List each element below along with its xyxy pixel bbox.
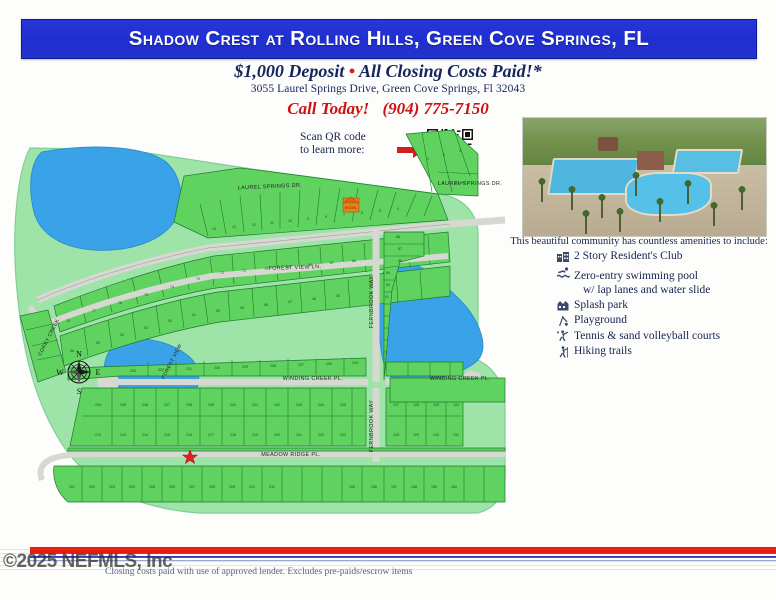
svg-text:222: 222 bbox=[318, 433, 324, 437]
svg-text:235: 235 bbox=[120, 403, 126, 407]
svg-text:236: 236 bbox=[142, 403, 148, 407]
svg-text:228: 228 bbox=[270, 364, 276, 368]
svg-text:240: 240 bbox=[230, 403, 236, 407]
svg-text:218: 218 bbox=[230, 433, 236, 437]
svg-text:209: 209 bbox=[229, 485, 235, 489]
svg-text:4: 4 bbox=[397, 207, 399, 211]
svg-text:203: 203 bbox=[109, 485, 115, 489]
property-address: 3055 Laurel Springs Drive, Green Cove Sp… bbox=[0, 83, 776, 95]
compass-east-label: E bbox=[96, 368, 101, 377]
svg-text:14: 14 bbox=[212, 227, 216, 231]
retention-pond-north bbox=[31, 147, 181, 250]
street-label: WINDING CREEK PL. bbox=[430, 376, 490, 382]
svg-text:47: 47 bbox=[288, 300, 292, 304]
svg-text:127: 127 bbox=[393, 403, 399, 407]
svg-text:69: 69 bbox=[286, 265, 290, 269]
svg-text:5: 5 bbox=[379, 209, 381, 213]
svg-text:77: 77 bbox=[92, 309, 96, 313]
svg-text:46: 46 bbox=[312, 297, 316, 301]
svg-text:213: 213 bbox=[120, 433, 126, 437]
svg-text:PARK: PARK bbox=[455, 181, 465, 185]
palm-tree-icon bbox=[581, 208, 591, 234]
svg-text:216: 216 bbox=[186, 433, 192, 437]
svg-text:88: 88 bbox=[398, 259, 402, 263]
compass-west-label: W bbox=[56, 368, 64, 377]
palm-tree-icon bbox=[597, 192, 607, 218]
header-banner: Shadow Crest at Rolling Hills, Green Cov… bbox=[21, 19, 757, 59]
svg-text:156: 156 bbox=[371, 485, 377, 489]
svg-text:72: 72 bbox=[220, 271, 224, 275]
svg-text:160: 160 bbox=[451, 485, 457, 489]
svg-text:52: 52 bbox=[168, 319, 172, 323]
svg-text:208: 208 bbox=[209, 485, 215, 489]
hiking-icon bbox=[556, 345, 570, 358]
svg-text:70: 70 bbox=[264, 267, 268, 271]
svg-text:230: 230 bbox=[214, 366, 220, 370]
svg-text:204: 204 bbox=[129, 485, 135, 489]
svg-text:245: 245 bbox=[340, 403, 346, 407]
svg-text:241: 241 bbox=[252, 403, 258, 407]
svg-text:54: 54 bbox=[120, 333, 124, 337]
svg-text:225: 225 bbox=[352, 361, 358, 365]
site-plan-svg[interactable]: LAUREL SPRINGS DR. LAUREL SPRINGS DR. FO… bbox=[8, 110, 508, 525]
amenity-text-group: Zero-entry swimming pool w/ lap lanes an… bbox=[574, 266, 710, 297]
svg-text:211: 211 bbox=[269, 485, 275, 489]
svg-text:124: 124 bbox=[453, 403, 459, 407]
svg-text:11: 11 bbox=[270, 221, 274, 225]
svg-text:68: 68 bbox=[308, 263, 312, 267]
svg-text:55: 55 bbox=[96, 341, 100, 345]
svg-text:45: 45 bbox=[336, 294, 340, 298]
amenities-intro: This beautiful community has countless a… bbox=[505, 236, 773, 247]
amenity-label: Splash park bbox=[574, 299, 628, 312]
street-label: FERNBROOK WAY bbox=[369, 276, 375, 329]
model-home-label: MODEL bbox=[345, 206, 358, 210]
svg-text:229: 229 bbox=[242, 365, 248, 369]
tennis-icon bbox=[556, 330, 570, 343]
svg-text:223: 223 bbox=[340, 433, 346, 437]
svg-text:158: 158 bbox=[411, 485, 417, 489]
svg-text:207: 207 bbox=[189, 485, 195, 489]
splash-park-icon bbox=[556, 299, 570, 312]
svg-text:159: 159 bbox=[431, 485, 437, 489]
svg-text:210: 210 bbox=[249, 485, 255, 489]
flyer-page: Shadow Crest at Rolling Hills, Green Cov… bbox=[0, 0, 776, 600]
svg-text:244: 244 bbox=[318, 403, 324, 407]
svg-text:86: 86 bbox=[396, 235, 400, 239]
photo-clubhouse bbox=[637, 151, 664, 170]
svg-text:7: 7 bbox=[343, 213, 345, 217]
svg-text:155: 155 bbox=[349, 485, 355, 489]
svg-text:1: 1 bbox=[427, 157, 429, 161]
svg-text:219: 219 bbox=[252, 433, 258, 437]
svg-text:9: 9 bbox=[307, 217, 309, 221]
palm-tree-icon bbox=[615, 206, 625, 232]
svg-text:233: 233 bbox=[130, 369, 136, 373]
svg-text:75: 75 bbox=[144, 293, 148, 297]
palm-tree-icon bbox=[567, 184, 577, 210]
street-label: FERNBROOK WAY bbox=[369, 400, 375, 453]
svg-text:50: 50 bbox=[216, 309, 220, 313]
amenity-sublabel: w/ lap lanes and water slide bbox=[574, 284, 710, 297]
pool-photo bbox=[522, 117, 767, 237]
swimmer-icon bbox=[556, 266, 570, 279]
palm-tree-icon bbox=[631, 170, 641, 196]
svg-text:12: 12 bbox=[252, 223, 256, 227]
svg-text:231: 231 bbox=[186, 367, 192, 371]
svg-text:89: 89 bbox=[386, 271, 390, 275]
amenity-label: Playground bbox=[574, 314, 627, 327]
compass-rose: N S E W bbox=[56, 347, 102, 395]
svg-text:212: 212 bbox=[95, 433, 101, 437]
svg-text:78: 78 bbox=[66, 319, 70, 323]
amenity-label: Tennis & sand volleyball courts bbox=[574, 330, 720, 343]
svg-text:53: 53 bbox=[144, 326, 148, 330]
svg-text:126: 126 bbox=[413, 403, 419, 407]
svg-text:205: 205 bbox=[149, 485, 155, 489]
svg-text:2: 2 bbox=[443, 153, 445, 157]
svg-text:237: 237 bbox=[164, 403, 170, 407]
playground-icon bbox=[556, 314, 570, 327]
site-plan-map[interactable]: LAUREL SPRINGS DR. LAUREL SPRINGS DR. FO… bbox=[8, 110, 508, 525]
svg-text:66: 66 bbox=[352, 259, 356, 263]
amenity-label: 2 Story Resident's Club bbox=[574, 250, 682, 263]
deposit-right-text: All Closing Costs Paid!* bbox=[359, 61, 542, 81]
disclaimer-text: Closing costs paid with use of approved … bbox=[105, 567, 665, 577]
svg-text:49: 49 bbox=[240, 306, 244, 310]
street-label: MEADOW RIDGE PL. bbox=[261, 452, 320, 458]
svg-text:226: 226 bbox=[326, 362, 332, 366]
street-label: LAUREL SPRINGS DR. bbox=[438, 181, 503, 187]
amenity-label: Hiking trails bbox=[574, 345, 632, 358]
palm-tree-icon bbox=[537, 176, 547, 202]
deposit-headline: $1,000 Deposit • All Closing Costs Paid!… bbox=[0, 61, 776, 82]
svg-text:243: 243 bbox=[296, 403, 302, 407]
photo-lap-pool bbox=[671, 149, 743, 174]
svg-text:129: 129 bbox=[413, 433, 419, 437]
svg-text:201: 201 bbox=[69, 485, 75, 489]
svg-text:242: 242 bbox=[274, 403, 280, 407]
svg-text:8: 8 bbox=[325, 215, 327, 219]
svg-text:215: 215 bbox=[164, 433, 170, 437]
palm-tree-icon bbox=[683, 178, 693, 204]
compass-north-label: N bbox=[76, 350, 82, 359]
bullet-separator: • bbox=[349, 61, 355, 81]
lot-block-winding-south-west[interactable] bbox=[70, 388, 366, 446]
svg-text:131: 131 bbox=[453, 433, 459, 437]
svg-text:73: 73 bbox=[196, 277, 200, 281]
compass-south-label: S bbox=[77, 387, 81, 395]
lot-block-meadow-south[interactable] bbox=[54, 466, 505, 502]
svg-text:217: 217 bbox=[208, 433, 214, 437]
amenity-label: Zero-entry swimming pool bbox=[574, 270, 698, 282]
svg-text:202: 202 bbox=[89, 485, 95, 489]
svg-text:71: 71 bbox=[242, 269, 246, 273]
svg-text:48: 48 bbox=[264, 303, 268, 307]
svg-text:232: 232 bbox=[158, 368, 164, 372]
svg-text:238: 238 bbox=[186, 403, 192, 407]
lot-block-meadow-north[interactable] bbox=[68, 448, 505, 451]
clubhouse-icon bbox=[556, 250, 570, 263]
svg-text:76: 76 bbox=[118, 301, 122, 305]
svg-text:51: 51 bbox=[192, 313, 196, 317]
photo-pavilion bbox=[598, 137, 617, 151]
svg-text:125: 125 bbox=[433, 403, 439, 407]
svg-text:6: 6 bbox=[361, 211, 363, 215]
amenity-item: Tennis & sand volleyball courts bbox=[556, 330, 776, 343]
palm-tree-icon bbox=[709, 200, 719, 226]
amenity-item: 2 Story Resident's Club bbox=[556, 250, 776, 263]
svg-text:220: 220 bbox=[274, 433, 280, 437]
svg-text:239: 239 bbox=[208, 403, 214, 407]
svg-text:87: 87 bbox=[398, 247, 402, 251]
svg-text:13: 13 bbox=[232, 225, 236, 229]
palm-tree-icon bbox=[655, 196, 665, 222]
street-label: WINDING CREEK PL. bbox=[283, 376, 343, 382]
svg-text:130: 130 bbox=[433, 433, 439, 437]
svg-text:67: 67 bbox=[330, 261, 334, 265]
palm-tree-icon bbox=[737, 184, 747, 210]
deposit-left-text: $1,000 Deposit bbox=[234, 61, 344, 81]
model-home-marker[interactable]: MODEL bbox=[343, 197, 359, 212]
svg-text:10: 10 bbox=[288, 219, 292, 223]
amenity-item: Hiking trails bbox=[556, 345, 776, 358]
amenity-item: Playground bbox=[556, 314, 776, 327]
svg-text:234: 234 bbox=[95, 403, 101, 407]
svg-text:221: 221 bbox=[296, 433, 302, 437]
amenity-item: Zero-entry swimming pool w/ lap lanes an… bbox=[556, 266, 776, 297]
svg-text:3: 3 bbox=[459, 149, 461, 153]
svg-text:90: 90 bbox=[386, 283, 390, 287]
svg-text:74: 74 bbox=[170, 285, 174, 289]
svg-text:128: 128 bbox=[393, 433, 399, 437]
svg-text:206: 206 bbox=[169, 485, 175, 489]
amenities-list: 2 Story Resident's Club Zero-entry swimm… bbox=[556, 250, 776, 361]
road-meadow-ridge-loop bbox=[41, 458, 55, 480]
banner-title: Shadow Crest at Rolling Hills, Green Cov… bbox=[129, 27, 649, 51]
road-laurel-springs-east bbox=[450, 220, 505, 224]
svg-text:91: 91 bbox=[385, 295, 389, 299]
svg-text:227: 227 bbox=[298, 363, 304, 367]
svg-text:157: 157 bbox=[391, 485, 397, 489]
amenity-item: Splash park bbox=[556, 299, 776, 312]
svg-text:214: 214 bbox=[142, 433, 148, 437]
